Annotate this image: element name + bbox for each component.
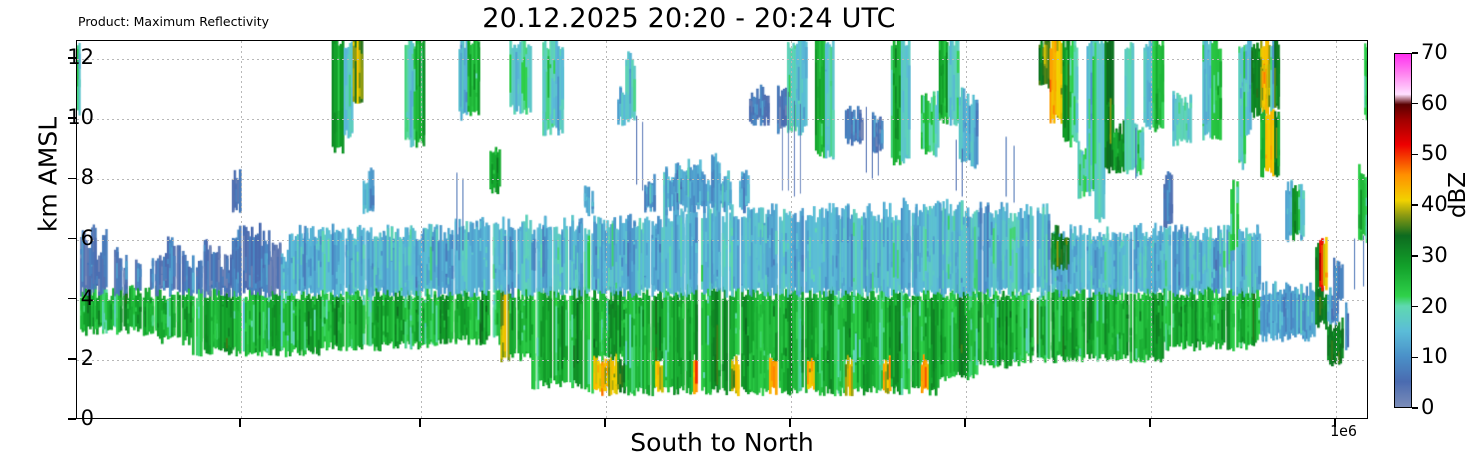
y-tick-label: 6	[81, 228, 94, 249]
reflectivity-heatmap	[77, 41, 1367, 418]
colorbar-title: dBZ	[1445, 135, 1471, 255]
y-tick-mark	[68, 238, 76, 240]
colorbar-gradient	[1395, 54, 1411, 407]
colorbar-tick-label: 10	[1421, 346, 1448, 367]
y-tick-label: 2	[81, 348, 94, 369]
y-tick-mark	[68, 298, 76, 300]
colorbar-tick-mark	[1412, 306, 1418, 308]
y-tick-label: 4	[81, 288, 94, 309]
colorbar-tick-mark	[1412, 255, 1418, 257]
y-axis-label: km AMSL	[34, 65, 63, 285]
y-tick-mark	[68, 418, 76, 420]
x-tick-mark	[1149, 419, 1151, 427]
x-axis-label: South to North	[76, 428, 1368, 457]
plot-area	[76, 40, 1368, 419]
colorbar-tick-mark	[1412, 407, 1418, 409]
colorbar-tick-label: 0	[1421, 397, 1434, 418]
colorbar-tick-mark	[1412, 52, 1418, 54]
x-tick-mark	[789, 419, 791, 427]
colorbar-tick-label: 60	[1421, 93, 1448, 114]
colorbar	[1394, 53, 1412, 408]
colorbar-tick-label: 50	[1421, 143, 1448, 164]
y-tick-mark	[68, 358, 76, 360]
page-title: 20.12.2025 20:20 - 20:24 UTC	[0, 4, 1378, 34]
x-axis-offset-text: 1e6	[1330, 422, 1357, 440]
colorbar-tick-mark	[1412, 154, 1418, 156]
x-tick-mark	[419, 419, 421, 427]
x-tick-mark	[239, 419, 241, 427]
colorbar-tick-mark	[1412, 103, 1418, 105]
y-tick-label: 12	[67, 47, 94, 68]
x-tick-mark	[964, 419, 966, 427]
colorbar-tick-label: 20	[1421, 296, 1448, 317]
y-tick-label: 8	[81, 167, 94, 188]
colorbar-tick-mark	[1412, 204, 1418, 206]
radar-cross-section-figure: Product: Maximum Reflectivity 20.12.2025…	[0, 0, 1482, 470]
colorbar-tick-label: 70	[1421, 42, 1448, 63]
colorbar-tick-mark	[1412, 357, 1418, 359]
y-tick-label: 10	[67, 107, 94, 128]
y-tick-mark	[68, 178, 76, 180]
x-tick-mark	[604, 419, 606, 427]
y-tick-label: 0	[81, 408, 94, 429]
colorbar-tick-label: 30	[1421, 245, 1448, 266]
colorbar-tick-label: 40	[1421, 194, 1448, 215]
